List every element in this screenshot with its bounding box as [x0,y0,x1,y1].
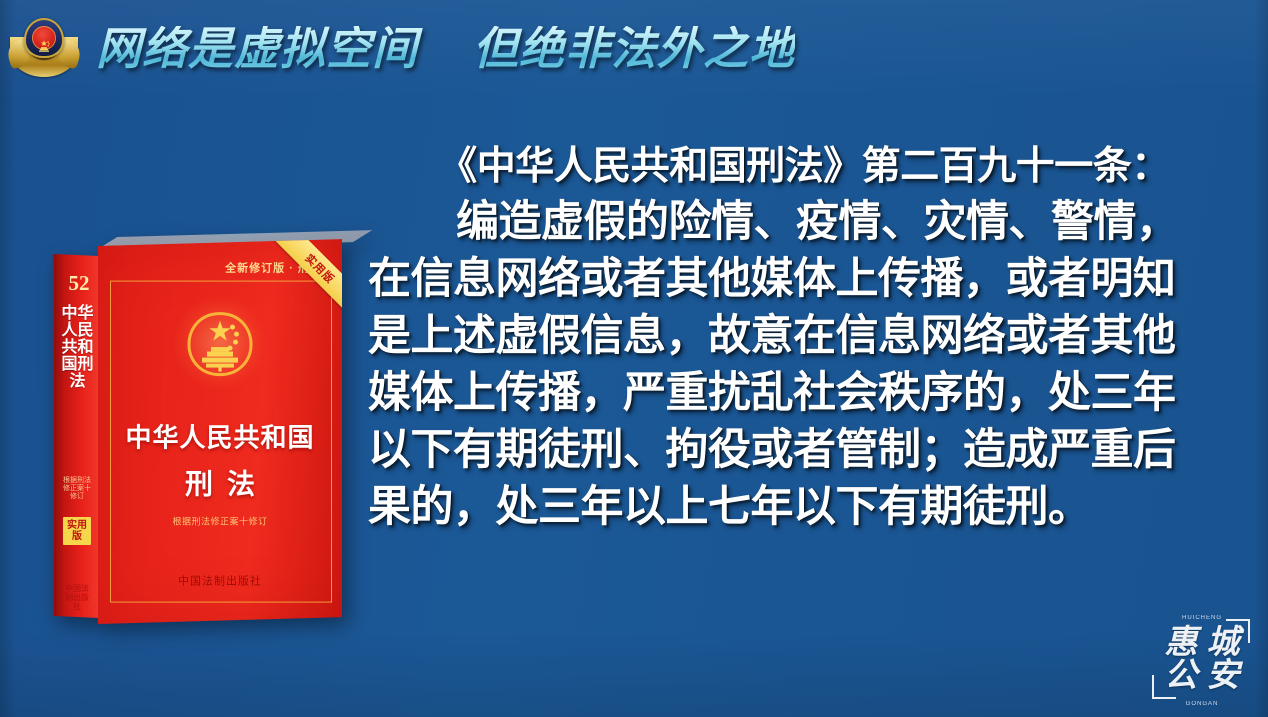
law-line: 编造虚假的险情、疫情、灾情、警情， [368,194,1240,251]
watermark-char: 安 [1202,660,1244,693]
book-spine-title: 中华人民共和国刑法 [54,305,99,390]
law-line: 媒体上传播，严重扰乱社会秩序的，处三年 [368,365,1240,422]
badge-national-emblem-icon [35,38,53,56]
header-slogan-part1: 网络是虚拟空间 [96,23,418,74]
watermark-pinyin-bottom: GONGAN [1150,701,1254,707]
book-cover-note: 根据刑法修正案十修订 [98,515,342,528]
law-line: 是上述虚假信息，故意在信息网络或者其他 [368,308,1240,365]
police-badge-icon [10,17,78,79]
huicheng-police-watermark: HUICHENG 惠 城 公 安 GONGAN [1150,611,1254,707]
law-line: 在信息网络或者其他媒体上传播，或者明知 [368,251,1240,308]
book-front-cover: 全新修订版 · 刑 法 实用版 [98,239,342,624]
book-cover-publisher: 中国法制出版社 [98,573,342,589]
book-spine-number: 52 [59,271,99,296]
law-text-block: 《中华人民共和国刑法》第二百九十一条： 编造虚假的险情、疫情、灾情、警情， 在信… [368,146,1240,536]
law-line: 果的，处三年以上七年以下有期徒刑。 [368,479,1240,536]
book-cover-title-line2: 刑法 [98,471,342,499]
header-slogan: 网络是虚拟空间 但绝非法外之地 [96,26,795,71]
watermark-char: 公 [1160,660,1202,693]
watermark-char: 惠 [1160,627,1202,660]
slide-canvas: 网络是虚拟空间 但绝非法外之地 52 中华人民共和国刑法 根据刑法修正案十修订 … [0,0,1268,717]
book-spine: 52 中华人民共和国刑法 根据刑法修正案十修订 实用版 中国法制出版社 [52,254,99,618]
header-slogan-part2: 但绝非法外之地 [473,23,795,74]
law-article-title: 《中华人民共和国刑法》第二百九十一条： [368,146,1240,188]
watermark-pinyin-top: HUICHENG [1150,615,1254,621]
law-line: 以下有期徒刑、拘役或者管制；造成严重后 [368,422,1240,479]
book-spine-subtitle: 根据刑法修正案十修订 [60,477,94,501]
header-banner: 网络是虚拟空间 但绝非法外之地 [0,0,1268,96]
book-spine-publisher: 中国法制出版社 [64,584,90,611]
criminal-law-book-image: 52 中华人民共和国刑法 根据刑法修正案十修订 实用版 中国法制出版社 全新修订… [52,246,342,624]
national-emblem-icon [174,299,266,391]
book-spine-tag: 实用版 [63,517,91,545]
watermark-char: 城 [1202,627,1244,660]
law-article-body: 编造虚假的险情、疫情、灾情、警情， 在信息网络或者其他媒体上传播，或者明知 是上… [368,194,1240,536]
book-cover-title-line1: 中华人民共和国 [98,425,342,451]
